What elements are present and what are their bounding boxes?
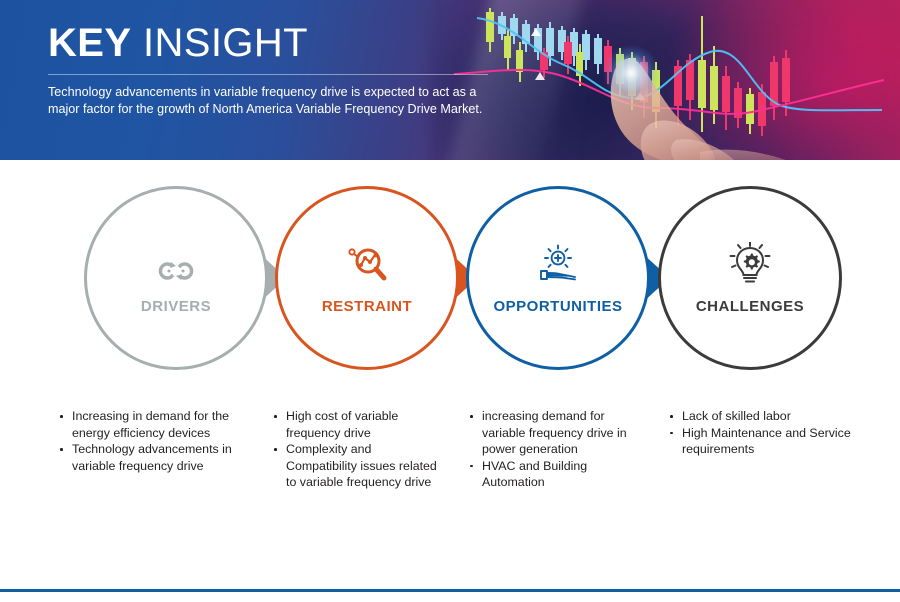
bullet-column-opportunities: increasing demand for variable frequency… xyxy=(468,408,633,491)
header-banner: KEY INSIGHT Technology advancements in v… xyxy=(0,0,900,160)
stage-circle-opportunities[interactable]: OPPORTUNITIES xyxy=(466,186,650,370)
stage-label-opportunities: OPPORTUNITIES xyxy=(493,298,622,315)
header-text-block: KEY INSIGHT Technology advancements in v… xyxy=(48,20,518,117)
page-title-bold: KEY xyxy=(48,21,131,65)
hand-holding-sun-plus-icon xyxy=(535,242,581,286)
bullet-column-challenges: Lack of skilled labor High Maintenance a… xyxy=(668,408,858,458)
bullet-column-restraint: High cost of variable frequency drive Co… xyxy=(272,408,437,491)
stage-label-restraint: RESTRAINT xyxy=(322,298,412,315)
stage-circle-restraint[interactable]: RESTRAINT xyxy=(275,186,459,370)
bullet-columns: Increasing in demand for the energy effi… xyxy=(0,408,900,548)
bullet-column-drivers: Increasing in demand for the energy effi… xyxy=(58,408,238,474)
list-item: High cost of variable frequency drive xyxy=(272,408,437,441)
stage-circle-challenges[interactable]: CHALLENGES xyxy=(658,186,842,370)
list-item: Lack of skilled labor xyxy=(668,408,858,425)
magnifier-chart-icon xyxy=(346,242,388,286)
stage-circles-row: DRIVERS xyxy=(0,168,900,396)
list-item: HVAC and Building Automation xyxy=(468,458,633,491)
list-item: Complexity and Compatibility issues rela… xyxy=(272,441,437,491)
lightbulb-gear-icon xyxy=(729,242,771,286)
page-title: KEY INSIGHT xyxy=(48,20,518,66)
list-item: High Maintenance and Service requirement… xyxy=(668,425,858,458)
stage-label-drivers: DRIVERS xyxy=(141,298,211,315)
stage-label-challenges: CHALLENGES xyxy=(696,298,804,315)
header-divider xyxy=(48,74,488,75)
page-title-light: INSIGHT xyxy=(143,21,308,65)
key-insight-infographic: KEY INSIGHT Technology advancements in v… xyxy=(0,0,900,602)
footer-divider xyxy=(0,589,900,592)
list-item: increasing demand for variable frequency… xyxy=(468,408,633,458)
infinity-gear-icon xyxy=(155,242,197,286)
header-subtitle: Technology advancements in variable freq… xyxy=(48,84,510,117)
hand-touching-screen-graphic xyxy=(530,20,890,160)
stage-circle-drivers[interactable]: DRIVERS xyxy=(84,186,268,370)
list-item: Technology advancements in variable freq… xyxy=(58,441,238,474)
list-item: Increasing in demand for the energy effi… xyxy=(58,408,238,441)
fingertip-glow xyxy=(604,46,658,100)
